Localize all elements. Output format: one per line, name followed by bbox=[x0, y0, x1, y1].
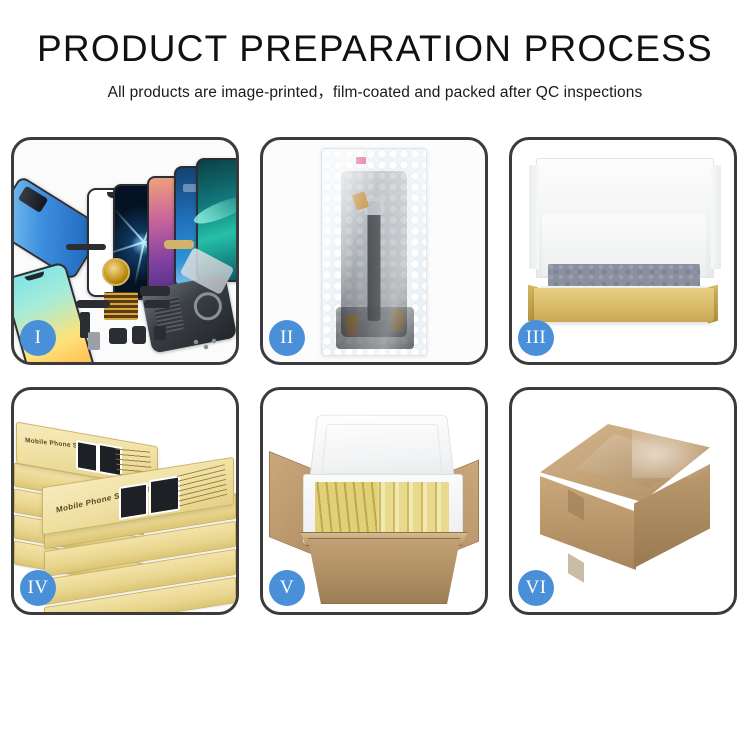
process-step-panel-5[interactable]: V bbox=[260, 387, 488, 615]
process-step-panel-6[interactable]: VI bbox=[509, 387, 737, 615]
flex-strip bbox=[368, 201, 381, 321]
pink-label bbox=[356, 157, 366, 164]
step-badge-6: VI bbox=[518, 570, 554, 606]
sim-tray-part bbox=[88, 332, 100, 350]
step-badge-3: III bbox=[518, 320, 554, 356]
speaker-coil-part bbox=[102, 258, 130, 286]
gold-connector-part bbox=[164, 240, 194, 249]
gold-box-tray bbox=[534, 288, 714, 322]
battery-strip-part bbox=[66, 244, 106, 250]
carton-tape-lower bbox=[568, 553, 584, 583]
flex-cable-part bbox=[140, 286, 170, 296]
box-window-image bbox=[149, 476, 180, 515]
camera-module-part bbox=[109, 328, 127, 344]
box-spec-lines bbox=[177, 465, 227, 507]
box-window-image bbox=[76, 440, 98, 473]
page-header: PRODUCT PREPARATION PROCESS All products… bbox=[0, 0, 750, 102]
page-subtitle: All products are image-printed，film-coat… bbox=[0, 80, 750, 102]
small-bracket-part bbox=[154, 326, 166, 340]
process-step-grid: I II bbox=[11, 137, 739, 615]
flex-cable-part bbox=[76, 300, 110, 308]
step-badge-5: V bbox=[269, 570, 305, 606]
carton-front-face bbox=[301, 538, 467, 604]
screws-part bbox=[192, 338, 218, 356]
camera-module-part bbox=[132, 326, 146, 344]
box-window-image bbox=[119, 482, 148, 519]
step-badge-2: II bbox=[269, 320, 305, 356]
packed-yellow-boxes bbox=[315, 482, 449, 536]
process-step-panel-2[interactable]: II bbox=[260, 137, 488, 365]
product-preparation-page: PRODUCT PREPARATION PROCESS All products… bbox=[0, 0, 750, 750]
flex-cable-part bbox=[144, 300, 170, 308]
process-step-panel-4[interactable]: Mobile Phone Spare Parts Mobile Phone Sp… bbox=[11, 387, 239, 615]
process-step-panel-1[interactable]: I bbox=[11, 137, 239, 365]
step-badge-1: I bbox=[20, 320, 56, 356]
part-bottom-section bbox=[336, 307, 414, 349]
process-step-panel-3[interactable]: III bbox=[509, 137, 737, 365]
step-badge-4: IV bbox=[20, 570, 56, 606]
page-title: PRODUCT PREPARATION PROCESS bbox=[0, 30, 750, 69]
bubble-wrap-bag bbox=[321, 148, 427, 356]
